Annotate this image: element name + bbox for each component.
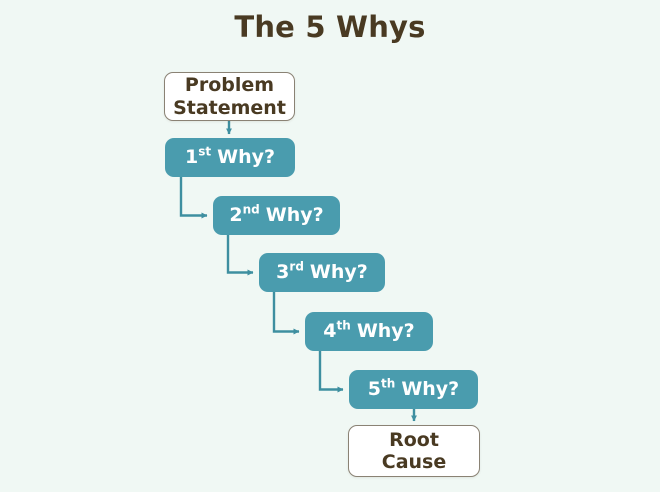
diagram-canvas: The 5 Whys Problem Statement 1stWhy?: [0, 0, 660, 492]
connector-why1-to-why2: [181, 177, 207, 216]
connector-why2-to-why3: [228, 235, 253, 273]
node-why-4-label: 4thWhy?: [323, 320, 414, 342]
why-3-ordinal: rd: [289, 260, 304, 274]
node-root-cause[interactable]: Root Cause: [348, 425, 480, 477]
node-why-3-label: 3rdWhy?: [276, 261, 368, 283]
why-3-word: Why?: [310, 261, 368, 283]
node-why-3[interactable]: 3rdWhy?: [259, 253, 385, 292]
why-1-word: Why?: [217, 146, 275, 168]
why-5-ordinal: th: [381, 377, 395, 391]
why-4-ordinal: th: [337, 319, 351, 333]
node-why-5[interactable]: 5thWhy?: [349, 370, 478, 409]
problem-statement-line1: Problem: [185, 74, 274, 96]
root-cause-line1: Root: [389, 429, 439, 451]
why-2-word: Why?: [266, 204, 324, 226]
node-why-1-label: 1stWhy?: [185, 146, 275, 168]
why-2-number: 2: [229, 204, 242, 226]
node-why-4[interactable]: 4thWhy?: [305, 312, 433, 351]
node-why-1[interactable]: 1stWhy?: [165, 138, 295, 177]
node-problem-statement-label: Problem Statement: [173, 74, 286, 119]
why-2-ordinal: nd: [243, 203, 260, 217]
node-root-cause-label: Root Cause: [382, 429, 447, 474]
problem-statement-line2: Statement: [173, 97, 286, 119]
node-why-2-label: 2ndWhy?: [229, 204, 323, 226]
node-why-5-label: 5thWhy?: [368, 378, 459, 400]
node-why-2[interactable]: 2ndWhy?: [213, 196, 340, 235]
why-4-number: 4: [323, 320, 336, 342]
why-5-word: Why?: [401, 378, 459, 400]
why-3-number: 3: [276, 261, 289, 283]
why-1-number: 1: [185, 146, 198, 168]
why-4-word: Why?: [357, 320, 415, 342]
page-title: The 5 Whys: [0, 10, 660, 44]
node-problem-statement[interactable]: Problem Statement: [164, 72, 295, 121]
connector-layer: [0, 0, 660, 492]
why-1-ordinal: st: [198, 145, 211, 159]
connector-why3-to-why4: [274, 292, 299, 332]
connector-why4-to-why5: [320, 351, 343, 390]
why-5-number: 5: [368, 378, 381, 400]
root-cause-line2: Cause: [382, 451, 447, 473]
